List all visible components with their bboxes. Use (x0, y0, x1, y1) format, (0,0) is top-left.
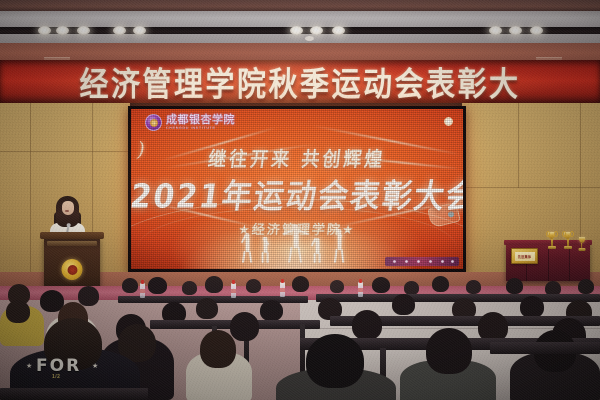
athlete-figure (314, 253, 316, 263)
athlete-silhouettes (235, 219, 365, 263)
award-plaque: 先进集体 (511, 248, 538, 264)
led-accent-dot (444, 117, 453, 126)
ceiling-spot-light (113, 26, 126, 35)
university-name-en: CHENGDU INSTITUTE (166, 127, 235, 131)
trophy-base (564, 246, 572, 249)
audience-head (372, 277, 390, 293)
ceiling-spot-light (56, 26, 69, 35)
university-logo-text: 成都银杏学院 CHENGDU INSTITUTE (166, 114, 235, 130)
award-plaque-text: 先进集体 (518, 254, 532, 259)
water-bottle (358, 282, 363, 297)
athlete-figure (341, 249, 345, 263)
water-bottle (231, 283, 236, 298)
ceiling-spot-light (509, 26, 522, 35)
athlete-figure (282, 229, 294, 236)
audience-head (200, 330, 236, 368)
ceiling-spot-light (530, 26, 543, 35)
athlete-figure (267, 252, 269, 263)
audience-head (78, 286, 99, 306)
led-screen-frame: ) 成都银杏学院 CHENGDU INSTITUTE 继往开来 共创辉煌 202… (128, 106, 466, 272)
jacket-star-left: ★ (26, 362, 32, 370)
audience-head (148, 277, 167, 294)
trophy-handle (570, 231, 574, 237)
event-banner: 经济管理学院秋季运动会表彰大 (0, 60, 600, 103)
ceiling-spot-light (38, 26, 51, 35)
audience-head (330, 280, 344, 293)
athlete-figure (245, 237, 249, 252)
athlete-figure (298, 247, 303, 263)
audience-desk (490, 342, 600, 354)
athlete-figure (288, 247, 293, 263)
audience-area: ★ FOR ★ 1/2 (0, 276, 600, 400)
audience-head (230, 312, 259, 341)
wall-seam (0, 151, 130, 152)
jacket-star-right: ★ (92, 362, 98, 370)
trophy-handle (546, 231, 550, 237)
ceiling-spot-light (310, 26, 323, 35)
athlete-figure (297, 229, 309, 236)
audience-head (260, 300, 283, 321)
ceiling-panel-upper (0, 11, 600, 28)
trophy (561, 230, 574, 250)
trophy (545, 230, 558, 250)
audience-head (292, 276, 309, 292)
university-logo: 成都银杏学院 CHENGDU INSTITUTE (145, 114, 235, 131)
trophy-base (578, 248, 585, 251)
audience-head (6, 300, 30, 323)
audience-head (466, 280, 481, 294)
water-bottle (140, 283, 145, 298)
athlete-figure (249, 251, 253, 263)
podium-trim (47, 241, 97, 246)
trophy-stem (551, 239, 553, 246)
audience-head (432, 276, 449, 292)
jacket-text: FOR (36, 356, 81, 376)
trophy-stem (567, 239, 569, 246)
audience-desk-front (0, 388, 148, 400)
university-crest-icon (145, 114, 162, 131)
podium-top-surface (40, 232, 104, 239)
audience-head (578, 279, 594, 294)
trophy-handle (562, 231, 566, 237)
desk-leg (300, 324, 305, 376)
audience-head (196, 298, 218, 319)
trophy (576, 236, 587, 252)
athlete-figure (262, 252, 264, 263)
ceiling-spot-light (133, 26, 146, 35)
foreground-person-head (306, 334, 364, 388)
smoke-detector-icon (305, 36, 314, 41)
speaker-mouth (65, 210, 69, 212)
audience-head (426, 328, 472, 374)
led-control-strip (385, 257, 459, 266)
audience-head (520, 296, 544, 318)
university-name-cn: 成都银杏学院 (166, 114, 235, 125)
audience-head (404, 281, 419, 295)
athlete-figure (334, 249, 338, 263)
audience-head (182, 281, 197, 295)
audience-head (392, 294, 415, 315)
audience-head (205, 276, 223, 293)
ceiling-spot-light (332, 26, 345, 35)
audience-head (246, 279, 261, 293)
audience-head (122, 278, 138, 293)
led-screen: ) 成都银杏学院 CHENGDU INSTITUTE 继往开来 共创辉煌 202… (131, 109, 463, 269)
athlete-figure (242, 251, 246, 263)
speaker-face (62, 201, 74, 215)
trophy-base (548, 246, 556, 249)
banner-title-text: 经济管理学院秋季运动会表彰大 (0, 60, 600, 103)
jacket-subtext: 1/2 (52, 374, 60, 380)
award-plaque-inner: 先进集体 (515, 252, 535, 261)
athlete-figure (319, 253, 321, 263)
ceiling-spot-light (489, 26, 502, 35)
athlete-figure (293, 229, 298, 248)
ceiling-spot-light (290, 26, 303, 35)
water-bottle (280, 282, 285, 297)
auditorium-photo: 经济管理学院秋季运动会表彰大 ) 成都银杏学院 CHENGDU INSTITUT… (0, 0, 600, 400)
audience-head (352, 310, 382, 340)
audience-head (506, 278, 523, 294)
trophy-handle (554, 231, 558, 237)
ceiling-spot-light (77, 26, 90, 35)
